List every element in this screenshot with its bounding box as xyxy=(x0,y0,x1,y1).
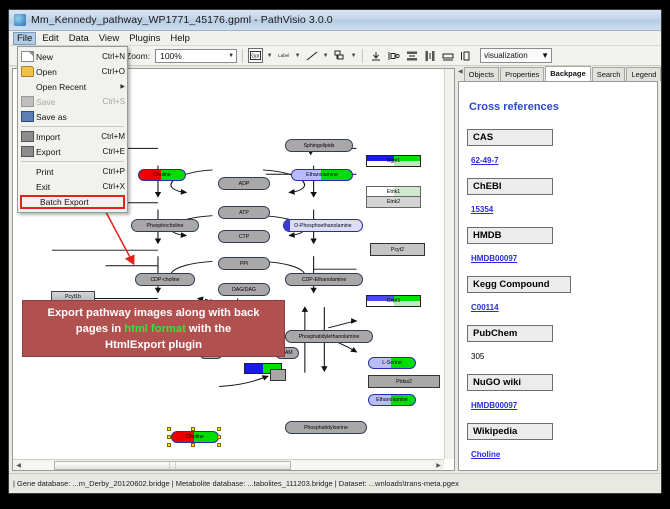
resize-handle-sw[interactable] xyxy=(167,443,171,447)
node-choline-selected[interactable]: Choline xyxy=(171,431,219,443)
label-icon[interactable]: Label xyxy=(276,48,291,63)
line-icon[interactable] xyxy=(304,48,319,63)
file-menu-export[interactable]: Export Ctrl+E xyxy=(18,144,127,159)
file-menu-popup[interactable]: New Ctrl+N Open Ctrl+O Open Recent ▶ Sav… xyxy=(17,46,128,213)
tab-properties[interactable]: Properties xyxy=(500,67,544,81)
xref-source-chebi: ChEBI xyxy=(467,178,553,195)
chevron-right-icon: ▶ xyxy=(120,83,125,90)
node-ethanolamine-right[interactable]: Ethanolamine xyxy=(368,394,416,406)
node-etnk1[interactable]: Etnk1 xyxy=(366,186,421,197)
visualization-combo[interactable]: visualization ▼ xyxy=(480,48,552,63)
hscroll-thumb[interactable]: ⋮⋮ xyxy=(54,461,291,470)
xref-value-hmdb[interactable]: HMDB00097 xyxy=(471,254,517,263)
same-width-icon[interactable] xyxy=(440,48,455,63)
distribute-vertical-icon[interactable] xyxy=(404,48,419,63)
align-top-icon[interactable] xyxy=(368,48,383,63)
hscroll-track[interactable]: ⋮⋮ xyxy=(24,461,433,470)
receptor-icon[interactable] xyxy=(332,48,347,63)
node-ctp[interactable]: CTP xyxy=(218,230,270,243)
file-menu-save: Save Ctrl+S xyxy=(18,94,127,109)
receptor-dropdown-icon[interactable]: ▼ xyxy=(350,53,357,59)
file-menu-separator-2 xyxy=(21,161,124,162)
export-icon xyxy=(21,146,34,157)
file-menu-save-as[interactable]: Save as xyxy=(18,109,127,124)
pathvisio-icon xyxy=(14,14,26,26)
menu-data[interactable]: Data xyxy=(65,32,93,45)
xref-value-wikipedia[interactable]: Choline xyxy=(471,450,500,459)
scroll-left-icon[interactable]: ◀ xyxy=(13,462,24,469)
node-phosphatidylethanolamine[interactable]: Phosphatidylethanolamine xyxy=(285,330,373,343)
resize-handle-ne[interactable] xyxy=(217,427,221,431)
file-menu-new[interactable]: New Ctrl+N xyxy=(18,49,127,64)
node-o-phosphoethanolamine[interactable]: O-Phosphoethanolamine xyxy=(283,219,363,232)
node-atp[interactable]: ATP xyxy=(218,206,270,219)
xref-source-hmdb: HMDB xyxy=(467,227,553,244)
svg-text:Gpr: Gpr xyxy=(251,53,260,59)
screenshot-frame: Mm_Kennedy_pathway_WP1771_45176.gpml - P… xyxy=(0,0,670,509)
node-color-half xyxy=(284,220,290,231)
node-adp[interactable]: ADP xyxy=(218,177,270,190)
xref-value-cas[interactable]: 62-49-7 xyxy=(471,156,499,165)
xref-value-chebi[interactable]: 15354 xyxy=(471,205,493,214)
tab-scroll-left-icon[interactable]: ◀ xyxy=(458,68,463,75)
toolbar-separator-2 xyxy=(362,49,363,63)
file-menu-exit[interactable]: Exit Ctrl+X xyxy=(18,179,127,194)
open-folder-icon xyxy=(21,66,34,77)
callout-line-3: HtmlExport plugin xyxy=(48,337,260,353)
zoom-label: Zoom: xyxy=(126,51,150,61)
same-height-icon[interactable] xyxy=(458,48,473,63)
menu-plugins[interactable]: Plugins xyxy=(125,32,164,45)
toolbar-separator xyxy=(242,49,243,63)
callout-line-1: Export pathway images along with back xyxy=(48,305,260,321)
data-node-dropdown-icon[interactable]: ▼ xyxy=(266,53,273,59)
node-sgpl1[interactable]: Sgpl1 xyxy=(366,155,421,167)
xref-group-nugo: NuGO wiki HMDB00097 xyxy=(467,374,653,421)
node-cdp-choline[interactable]: CDP-choline xyxy=(135,273,195,286)
line-dropdown-icon[interactable]: ▼ xyxy=(322,53,329,59)
node-dag[interactable]: DAG/DAG xyxy=(218,283,270,296)
application-window: Mm_Kennedy_pathway_WP1771_45176.gpml - P… xyxy=(8,9,662,494)
zoom-value: 100% xyxy=(160,51,182,61)
file-menu-open-recent[interactable]: Open Recent ▶ xyxy=(18,79,127,94)
node-phosphatidylserine[interactable]: Phosphatidylserine xyxy=(285,421,367,434)
visualization-value: visualization xyxy=(484,51,528,60)
node-ptdss2[interactable]: Ptdss2 xyxy=(368,375,440,388)
file-menu-open[interactable]: Open Ctrl+O xyxy=(18,64,127,79)
callout-line-2-pre: pages in xyxy=(76,323,125,335)
resize-handle-w[interactable] xyxy=(167,435,171,439)
xref-source-kegg: Kegg Compound xyxy=(467,276,571,293)
menu-view[interactable]: View xyxy=(95,32,123,45)
menu-bar: File Edit Data View Plugins Help xyxy=(9,31,661,46)
xref-group-wikipedia: Wikipedia Choline xyxy=(467,423,653,470)
xref-source-pubchem: PubChem xyxy=(467,325,553,342)
cross-references-title: Cross references xyxy=(469,101,653,113)
blank-icon xyxy=(21,81,34,92)
xref-group-cas: CAS 62-49-7 xyxy=(467,129,653,176)
data-node-icon[interactable]: Gpr xyxy=(248,48,263,63)
node-phosphocholine[interactable]: Phosphocholine xyxy=(131,219,199,232)
blank-icon-3 xyxy=(21,181,34,192)
resize-handle-e[interactable] xyxy=(217,435,221,439)
distribute-horizontal-icon[interactable] xyxy=(422,48,437,63)
menu-help[interactable]: Help xyxy=(166,32,194,45)
node-choline-top[interactable]: Choline xyxy=(138,169,186,181)
xref-value-nugo[interactable]: HMDB00097 xyxy=(471,401,517,410)
node-etnk2[interactable]: Etnk2 xyxy=(366,197,421,208)
menu-file[interactable]: File xyxy=(13,32,36,45)
node-cept1[interactable]: Cept1 xyxy=(366,295,421,307)
menu-edit[interactable]: Edit xyxy=(38,32,62,45)
tab-backpage[interactable]: Backpage xyxy=(545,66,590,81)
blank-icon-4 xyxy=(25,197,38,208)
callout-line-2: pages in html format with the xyxy=(48,321,260,337)
status-bar: | Gene database: ...m_Derby_20120602.bri… xyxy=(9,473,661,493)
xref-source-wikipedia: Wikipedia xyxy=(467,423,553,440)
resize-handle-s[interactable] xyxy=(191,443,195,447)
canvas-horizontal-scrollbar[interactable]: ◀ ⋮⋮ ▶ xyxy=(13,459,444,470)
status-text: | Gene database: ...m_Derby_20120602.bri… xyxy=(13,479,459,488)
label-icon-text: Label xyxy=(278,53,289,58)
scroll-right-icon[interactable]: ▶ xyxy=(433,462,444,469)
callout-highlight: html format xyxy=(124,323,186,335)
xref-group-chebi: ChEBI 15354 xyxy=(467,178,653,225)
backpage-content: Cross references CAS 62-49-7 ChEBI 15354… xyxy=(458,82,658,471)
xref-source-nugo: NuGO wiki xyxy=(467,374,553,391)
xref-source-cas: CAS xyxy=(467,129,553,146)
node-ethanolamine-top[interactable]: Ethanolamine xyxy=(291,169,353,181)
zoom-combo[interactable]: 100% ▼ xyxy=(155,49,237,63)
node-ppi[interactable]: PPi xyxy=(218,257,270,270)
node-cdp-ethanolamine[interactable]: CDP-Ethanolamine xyxy=(285,273,363,286)
tab-search[interactable]: Search xyxy=(592,67,626,81)
file-menu-print[interactable]: Print Ctrl+P xyxy=(18,164,127,179)
xref-value-pubchem: 305 xyxy=(471,352,484,361)
align-left-icon[interactable] xyxy=(386,48,401,63)
new-document-icon xyxy=(21,51,34,62)
callout-line-2-post: with the xyxy=(186,323,231,335)
node-anchor-block[interactable] xyxy=(270,369,286,381)
tab-legend[interactable]: Legend xyxy=(626,67,661,81)
xref-group-pubchem: PubChem 305 xyxy=(467,325,653,372)
resize-handle-nw[interactable] xyxy=(167,427,171,431)
callout-annotation: Export pathway images along with back pa… xyxy=(22,300,285,357)
window-title: Mm_Kennedy_pathway_WP1771_45176.gpml - P… xyxy=(31,14,333,26)
tab-objects[interactable]: Objects xyxy=(464,67,499,81)
title-bar: Mm_Kennedy_pathway_WP1771_45176.gpml - P… xyxy=(9,10,661,31)
side-panel-tabs: ◀ Objects Properties Backpage Search Leg… xyxy=(458,68,658,82)
file-menu-import[interactable]: Import Ctrl+M xyxy=(18,129,127,144)
xref-value-kegg[interactable]: C00114 xyxy=(471,303,499,312)
save-disk-icon xyxy=(21,96,34,107)
selection-choline[interactable]: Choline xyxy=(165,425,225,449)
chevron-down-icon: ▼ xyxy=(228,53,234,59)
node-sphingolipids[interactable]: Sphingolipids xyxy=(285,139,353,152)
save-as-icon xyxy=(21,111,34,122)
xref-group-kegg: Kegg Compound C00114 xyxy=(467,276,653,323)
label-dropdown-icon[interactable]: ▼ xyxy=(294,53,301,59)
side-panel: ◀ Objects Properties Backpage Search Leg… xyxy=(458,68,658,471)
file-menu-batch-export[interactable]: Batch Export xyxy=(20,195,125,209)
blank-icon-2 xyxy=(21,166,34,177)
chevron-down-icon-2: ▼ xyxy=(541,51,549,60)
xref-group-hmdb: HMDB HMDB00097 xyxy=(467,227,653,274)
resize-handle-se[interactable] xyxy=(217,443,221,447)
resize-handle-n[interactable] xyxy=(191,427,195,431)
import-icon xyxy=(21,131,34,142)
canvas-vertical-scrollbar[interactable] xyxy=(444,69,454,459)
node-pcyt2[interactable]: Pcyt2 xyxy=(370,243,425,256)
node-l-serine[interactable]: L-Serine xyxy=(368,357,416,369)
file-menu-separator-1 xyxy=(21,126,124,127)
